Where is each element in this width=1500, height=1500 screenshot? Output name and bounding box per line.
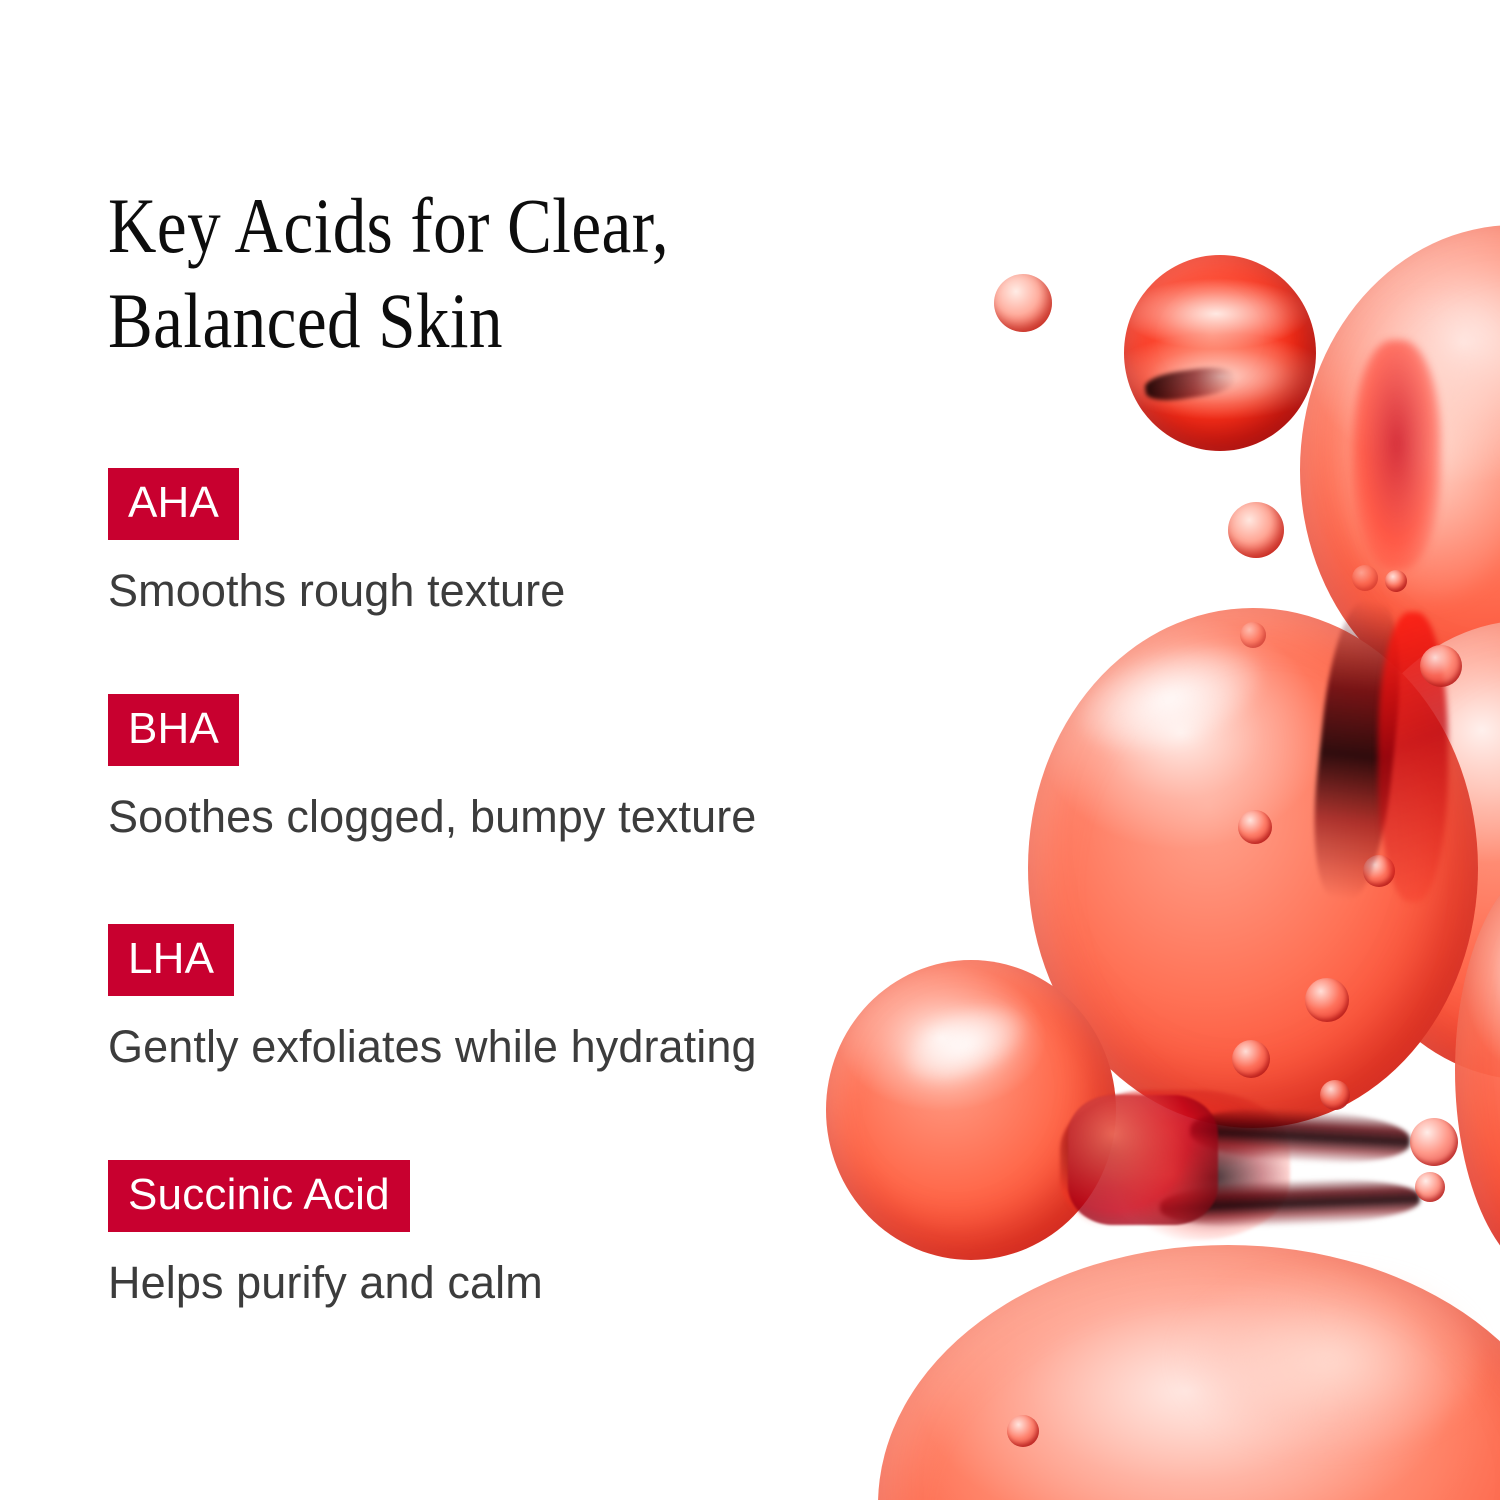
bubble-central-micro-3 — [1305, 978, 1349, 1022]
page-title: Key Acids for Clear, Balanced Skin — [108, 178, 796, 368]
bubble-floating-medium — [1124, 255, 1316, 451]
acid-item-bha: BHA Soothes clogged, bumpy texture — [108, 694, 756, 842]
bubble-bottom-micro-1 — [1007, 1415, 1039, 1447]
bubble-fold-micro — [1420, 645, 1462, 687]
bubble-central-micro-1 — [1238, 810, 1272, 844]
marketing-graphic: Key Acids for Clear, Balanced Skin AHA S… — [0, 0, 1500, 1500]
bubble-central-large — [1028, 608, 1478, 1128]
badge-lha: LHA — [108, 924, 234, 996]
bubble-bottom-large — [878, 1245, 1500, 1500]
bubble-cluster-left-highlight — [892, 988, 1039, 1102]
acid-item-lha: LHA Gently exfoliates while hydrating — [108, 924, 757, 1072]
badge-aha: AHA — [108, 468, 239, 540]
bubble-junction-micro-2 — [1415, 1172, 1445, 1202]
bubble-microbubble-1 — [1352, 565, 1378, 591]
bubble-junction-band-1 — [1189, 1104, 1411, 1167]
acid-item-succinic-acid: Succinic Acid Helps purify and calm — [108, 1160, 543, 1308]
acid-description-lha: Gently exfoliates while hydrating — [108, 1022, 757, 1072]
bubble-fold-vertical — [1305, 597, 1410, 903]
bubble-cluster-left — [826, 960, 1116, 1260]
bubble-bottom-sheen — [1180, 1270, 1480, 1450]
bubble-central-micro-6 — [1240, 622, 1266, 648]
acid-description-aha: Smooths rough texture — [108, 566, 565, 616]
acid-item-aha: AHA Smooths rough texture — [108, 468, 565, 616]
bubble-fold-crimson — [1378, 612, 1448, 902]
badge-bha: BHA — [108, 694, 239, 766]
bubble-right-mid-large — [1330, 620, 1500, 1080]
bubble-foam-junction — [1060, 1090, 1290, 1240]
acid-description-succinic-acid: Helps purify and calm — [108, 1258, 543, 1308]
bubble-top-right-large — [1300, 225, 1500, 715]
bubble-junction-micro-1 — [1410, 1118, 1458, 1166]
acid-description-bha: Soothes clogged, bumpy texture — [108, 792, 756, 842]
bubble-central-micro-4 — [1232, 1040, 1270, 1078]
bubble-junction-band-2 — [1159, 1175, 1420, 1230]
bubble-microbubble-2 — [1385, 570, 1407, 592]
bubble-floating-medium-dark-streak — [1143, 364, 1236, 404]
bubble-central-micro-2 — [1363, 855, 1395, 887]
bubble-right-edge-sliver — [1455, 860, 1500, 1280]
bubble-central-micro-5 — [1320, 1080, 1350, 1110]
bubble-top-right-inner-dark — [1352, 340, 1442, 570]
bubble-junction-cells — [1068, 1095, 1218, 1225]
bubble-tiny-1 — [994, 274, 1052, 332]
bubble-tiny-2 — [1228, 502, 1284, 558]
bubble-top-right-sheen — [1330, 300, 1500, 600]
badge-succinic-acid: Succinic Acid — [108, 1160, 410, 1232]
bubble-central-highlight — [1065, 623, 1275, 773]
